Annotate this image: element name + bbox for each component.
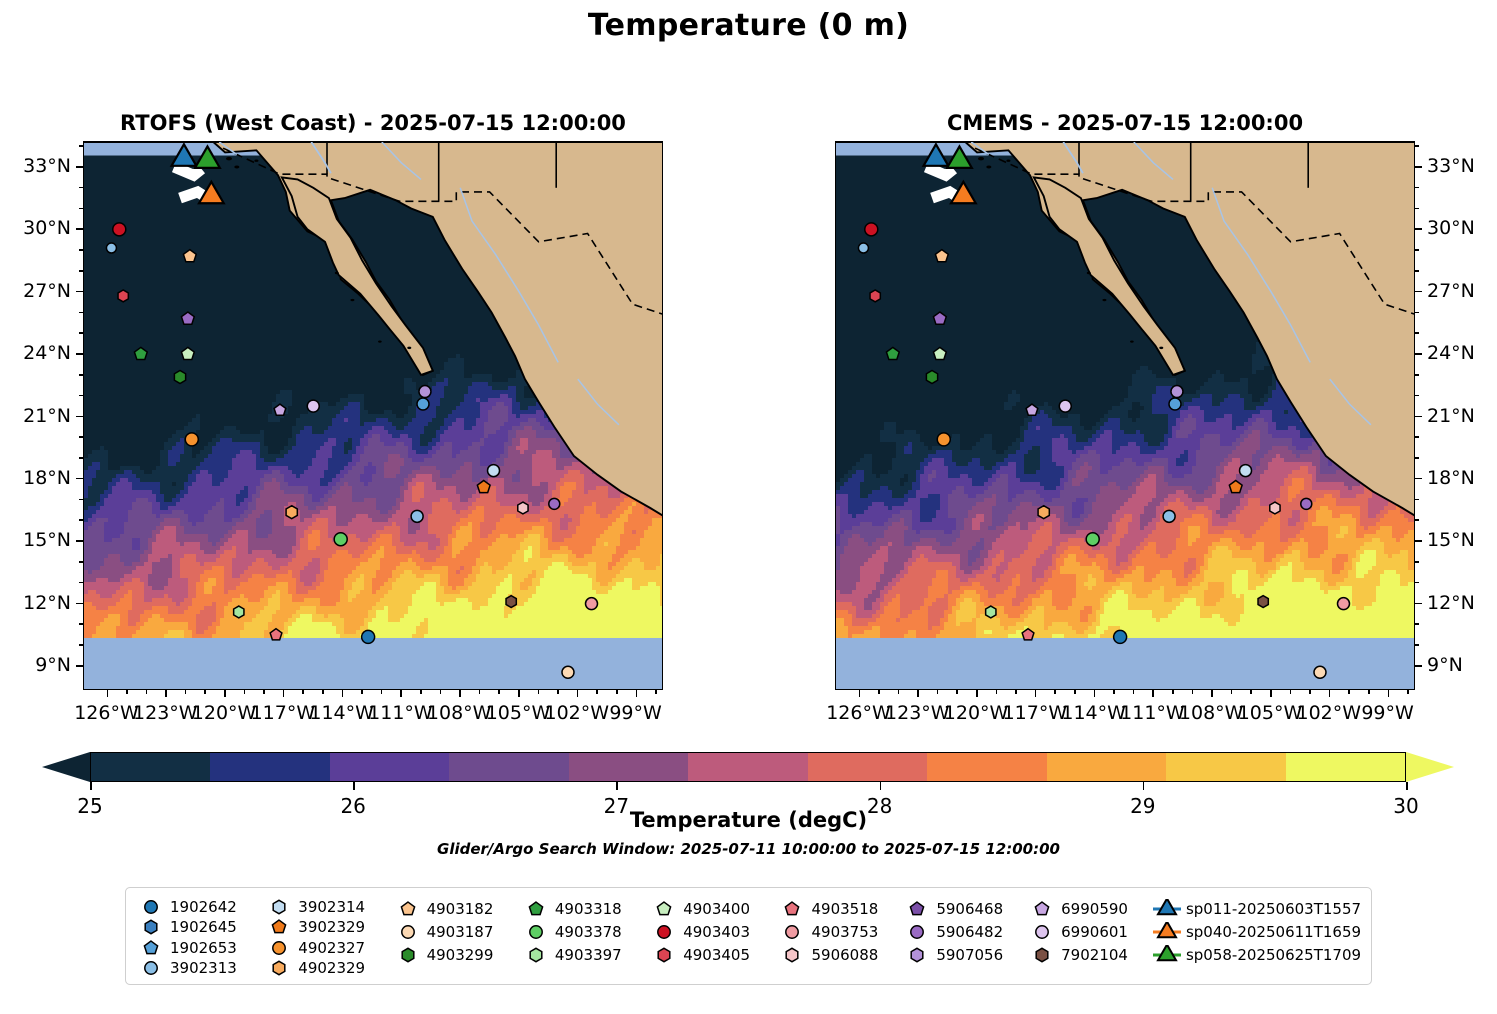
legend-marker-1902642 <box>136 897 166 917</box>
colorbar-under-arrow <box>42 752 90 782</box>
x-tick-label: 105°W <box>1238 702 1303 724</box>
nodata-band <box>84 638 663 690</box>
argo-marker-4902327 <box>937 433 950 446</box>
y-tick <box>1415 166 1422 168</box>
nodata-band <box>836 638 1415 690</box>
x-tick-label: 120°W <box>192 702 257 724</box>
x-tick-label: 117°W <box>251 702 316 724</box>
x-tick-minor <box>1309 690 1311 694</box>
legend-marker-sp040-20250611T1659 <box>1152 922 1182 942</box>
legend-marker-4902329 <box>264 958 294 978</box>
y-tick-minor <box>79 145 83 147</box>
x-tick-minor <box>956 690 958 694</box>
y-tick-minor <box>1415 499 1419 501</box>
legend-item[interactable]: 3902314 <box>264 897 392 917</box>
x-tick-minor <box>878 690 880 694</box>
y-tick-minor <box>79 561 83 563</box>
legend-item[interactable]: 4903403 <box>649 920 777 943</box>
x-tick-minor <box>1231 690 1233 694</box>
x-tick <box>1035 690 1037 697</box>
legend-marker-5907056 <box>902 945 932 965</box>
colorbar-tick <box>1406 782 1408 790</box>
x-tick-minor <box>381 690 383 694</box>
legend-label: sp011-20250603T1557 <box>1182 900 1361 918</box>
argo-marker-3902313c <box>1163 510 1175 522</box>
legend-marker-1902645 <box>136 917 166 937</box>
argo-marker-4903378 <box>1086 533 1099 546</box>
figure-title: Temperature (0 m) <box>0 8 1497 43</box>
map-axes-cmems[interactable] <box>835 141 1415 690</box>
y-tick <box>1415 353 1422 355</box>
y-tick-minor <box>1415 187 1419 189</box>
y-tick-minor <box>1415 208 1419 210</box>
x-tick <box>283 690 285 697</box>
colorbar-band-3 <box>449 753 568 781</box>
y-tick-minor <box>79 249 83 251</box>
map-panel-cmems: CMEMS - 2025-07-15 12:00:00 126°W123°W12… <box>835 141 1415 690</box>
legend-item[interactable]: 4903182 <box>393 897 521 920</box>
x-tick-minor <box>1407 690 1409 694</box>
x-tick-minor <box>244 690 246 694</box>
argo-marker-4903299 <box>174 371 185 384</box>
x-tick-label: 105°W <box>486 702 551 724</box>
legend-item[interactable]: 6990601 <box>1027 920 1152 943</box>
panel-title-rtofs: RTOFS (West Coast) - 2025-07-15 12:00:00 <box>83 111 663 135</box>
y-tick-minor <box>1415 457 1419 459</box>
argo-marker-4903753 <box>586 598 598 610</box>
panel-title-cmems: CMEMS - 2025-07-15 12:00:00 <box>835 111 1415 135</box>
legend-label: 4903187 <box>423 923 494 941</box>
argo-marker-4903299 <box>926 371 937 384</box>
argo-marker-3902313b <box>417 398 429 410</box>
colorbar-tick <box>616 782 618 790</box>
argo-marker-4903753 <box>1338 598 1350 610</box>
y-tick-minor <box>79 519 83 521</box>
legend-marker-1902653 <box>136 938 166 958</box>
x-tick <box>400 690 402 697</box>
x-tick-minor <box>1192 690 1194 694</box>
x-tick-label: 108°W <box>1179 702 1244 724</box>
x-tick-label: 123°W <box>885 702 950 724</box>
colorbar-gradient <box>90 752 1406 782</box>
y-tick-label: 21°N <box>1427 405 1475 427</box>
x-tick-label: 120°W <box>944 702 1009 724</box>
x-tick-minor <box>185 690 187 694</box>
legend-marker-4903397 <box>521 945 551 965</box>
legend-label: 4902327 <box>294 939 365 957</box>
y-tick-minor <box>79 312 83 314</box>
y-tick-minor <box>1415 312 1419 314</box>
x-tick-label: 99°W <box>609 702 661 724</box>
legend: 1902642190264519026533902313390231439023… <box>125 887 1372 985</box>
x-tick <box>577 690 579 697</box>
argo-marker-4902327 <box>185 433 198 446</box>
legend-marker-4903318 <box>521 899 551 919</box>
x-tick-label: 126°W <box>826 702 891 724</box>
colorbar-tick <box>880 782 882 790</box>
argo-marker-4903403 <box>865 223 878 236</box>
x-tick-label: 123°W <box>133 702 198 724</box>
legend-label: 3902314 <box>294 898 365 916</box>
y-tick-minor <box>1415 582 1419 584</box>
argo-marker-4903397 <box>234 606 244 618</box>
legend-label: 4903299 <box>423 946 494 964</box>
y-tick <box>76 540 83 542</box>
y-tick <box>76 291 83 293</box>
legend-label: 3902329 <box>294 918 365 936</box>
x-tick-minor <box>1290 690 1292 694</box>
legend-label: 6990601 <box>1057 923 1128 941</box>
x-tick-minor <box>322 690 324 694</box>
y-tick-minor <box>79 644 83 646</box>
x-tick <box>976 690 978 697</box>
legend-item[interactable]: 4903518 <box>777 897 902 920</box>
y-tick-label: 27°N <box>1427 280 1475 302</box>
legend-label: 5906482 <box>932 923 1003 941</box>
y-tick-minor <box>1415 374 1419 376</box>
legend-item[interactable]: 1902645 <box>136 917 264 937</box>
legend-label: 4903403 <box>679 923 750 941</box>
x-tick-minor <box>1074 690 1076 694</box>
x-tick-minor <box>361 690 363 694</box>
y-tick-label: 33°N <box>23 155 71 177</box>
legend-item[interactable]: 5906482 <box>902 920 1027 943</box>
x-tick-label: 111°W <box>368 702 433 724</box>
y-tick-minor <box>79 623 83 625</box>
legend-label: 1902642 <box>166 898 237 916</box>
legend-marker-3902329 <box>264 917 294 937</box>
legend-column-2: 490318249031874903299 <box>393 897 521 978</box>
legend-label: 5907056 <box>932 946 1003 964</box>
legend-item[interactable]: sp058-20250625T1709 <box>1152 943 1361 966</box>
colorbar-band-9 <box>1166 753 1285 781</box>
argo-marker-7902104 <box>1258 596 1268 608</box>
y-tick <box>76 478 83 480</box>
legend-item[interactable]: 1902642 <box>136 897 264 917</box>
legend-marker-6990590 <box>1027 899 1057 919</box>
legend-column-8: sp011-20250603T1557sp040-20250611T1659sp… <box>1152 897 1361 978</box>
argo-marker-4903187 <box>1314 666 1326 678</box>
y-tick-minor <box>1415 332 1419 334</box>
y-tick-label: 18°N <box>23 467 71 489</box>
y-tick-minor <box>1415 519 1419 521</box>
x-tick <box>1211 690 1213 697</box>
x-tick-minor <box>440 690 442 694</box>
argo-marker-5907056 <box>1171 386 1183 398</box>
legend-label: 4903400 <box>679 900 750 918</box>
y-tick-label: 9°N <box>1427 654 1463 676</box>
colorbar-band-0 <box>91 753 210 781</box>
y-tick <box>76 665 83 667</box>
argo-marker-4903397 <box>986 606 996 618</box>
x-tick <box>636 690 638 697</box>
argo-marker-4902329 <box>286 506 297 519</box>
argo-marker-4903378 <box>334 533 347 546</box>
legend-label: 4903378 <box>551 923 622 941</box>
map-panel-rtofs: RTOFS (West Coast) - 2025-07-15 12:00:00… <box>83 141 663 690</box>
y-tick <box>76 603 83 605</box>
x-tick-minor <box>263 690 265 694</box>
x-tick-minor <box>1172 690 1174 694</box>
legend-marker-4903518 <box>777 899 807 919</box>
y-tick-minor <box>1415 623 1419 625</box>
y-tick-label: 24°N <box>23 342 71 364</box>
x-tick <box>859 690 861 697</box>
x-tick-minor <box>898 690 900 694</box>
colorbar-band-7 <box>927 753 1046 781</box>
x-tick-label: 102°W <box>1297 702 1362 724</box>
sst-field <box>836 142 1415 690</box>
y-tick-label: 30°N <box>23 217 71 239</box>
legend-label: 4903518 <box>807 900 878 918</box>
x-tick <box>107 690 109 697</box>
x-tick-label: 99°W <box>1361 702 1413 724</box>
x-tick <box>1094 690 1096 697</box>
legend-item[interactable]: sp040-20250611T1659 <box>1152 920 1361 943</box>
x-tick-minor <box>655 690 657 694</box>
legend-item[interactable]: 4902327 <box>264 938 392 958</box>
x-tick-minor <box>126 690 128 694</box>
legend-column-6: 590646859064825907056 <box>902 897 1027 978</box>
colorbar-tick <box>1143 782 1145 790</box>
legend-label: 6990590 <box>1057 900 1128 918</box>
y-tick-label: 30°N <box>1427 217 1475 239</box>
x-tick-label: 114°W <box>309 702 374 724</box>
legend-marker-4903753 <box>777 922 807 942</box>
legend-column-1: 3902314390232949023274902329 <box>264 897 392 978</box>
x-tick <box>1329 690 1331 697</box>
y-tick-minor <box>79 270 83 272</box>
x-tick-minor <box>479 690 481 694</box>
argo-marker-4903403 <box>113 223 126 236</box>
x-tick-label: 114°W <box>1061 702 1126 724</box>
argo-marker-7902104 <box>506 596 516 608</box>
legend-label: 4903318 <box>551 900 622 918</box>
x-tick <box>342 690 344 697</box>
legend-item[interactable]: 4903405 <box>649 943 777 966</box>
legend-item[interactable]: 5906088 <box>777 943 902 966</box>
y-tick <box>1415 416 1422 418</box>
argo-marker-5906088 <box>518 502 528 514</box>
x-tick-minor <box>1133 690 1135 694</box>
y-tick-label: 15°N <box>1427 529 1475 551</box>
y-tick-label: 12°N <box>1427 592 1475 614</box>
colorbar-tick <box>90 782 92 790</box>
argo-marker-1902642 <box>1114 630 1127 643</box>
legend-marker-4903182 <box>393 899 423 919</box>
x-tick-minor <box>302 690 304 694</box>
argo-marker-6990601 <box>307 400 319 412</box>
legend-marker-5906468 <box>902 899 932 919</box>
legend-item[interactable]: sp011-20250603T1557 <box>1152 897 1361 920</box>
legend-marker-6990601 <box>1027 922 1057 942</box>
legend-marker-sp011-20250603T1557 <box>1152 899 1182 919</box>
colorbar-band-5 <box>688 753 807 781</box>
colorbar-band-10 <box>1286 753 1405 781</box>
x-tick-minor <box>557 690 559 694</box>
x-tick-minor <box>498 690 500 694</box>
legend-item[interactable]: 3902313 <box>136 958 264 978</box>
x-tick-label: 126°W <box>74 702 139 724</box>
legend-label: sp058-20250625T1709 <box>1182 946 1361 964</box>
colorbar-band-8 <box>1047 753 1166 781</box>
legend-marker-4902327 <box>264 938 294 958</box>
y-tick-label: 12°N <box>23 592 71 614</box>
argo-marker-3902313 <box>858 243 868 253</box>
x-tick-minor <box>616 690 618 694</box>
x-tick-minor <box>204 690 206 694</box>
legend-item[interactable]: 4903753 <box>777 920 902 943</box>
legend-item[interactable]: 5906468 <box>902 897 1027 920</box>
x-tick <box>224 690 226 697</box>
legend-item[interactable]: 7902104 <box>1027 943 1152 966</box>
y-tick <box>1415 603 1422 605</box>
legend-item[interactable]: 4903187 <box>393 920 521 943</box>
x-tick-label: 102°W <box>545 702 610 724</box>
legend-item[interactable]: 5907056 <box>902 943 1027 966</box>
argo-marker-3902313 <box>106 243 116 253</box>
y-tick-label: 18°N <box>1427 467 1475 489</box>
y-tick <box>1415 228 1422 230</box>
legend-marker-5906482 <box>902 922 932 942</box>
y-tick-minor <box>1415 561 1419 563</box>
colorbar-title: Temperature (degC) <box>0 808 1497 832</box>
y-tick <box>76 166 83 168</box>
y-tick-minor <box>79 582 83 584</box>
legend-item[interactable]: 4903318 <box>521 897 649 920</box>
y-tick-minor <box>1415 395 1419 397</box>
x-tick-minor <box>1054 690 1056 694</box>
legend-label: 4902329 <box>294 959 365 977</box>
x-tick-minor <box>937 690 939 694</box>
x-tick-minor <box>996 690 998 694</box>
legend-marker-5906088 <box>777 945 807 965</box>
map-axes-rtofs[interactable] <box>83 141 663 690</box>
argo-marker-4903187 <box>562 666 574 678</box>
legend-item[interactable]: 4903397 <box>521 943 649 966</box>
y-tick-minor <box>79 332 83 334</box>
y-tick-label: 9°N <box>35 654 71 676</box>
x-tick <box>1388 690 1390 697</box>
x-tick <box>165 690 167 697</box>
legend-item[interactable]: 4903378 <box>521 920 649 943</box>
legend-label: 1902645 <box>166 918 237 936</box>
legend-label: 1902653 <box>166 939 237 957</box>
legend-column-0: 1902642190264519026533902313 <box>136 897 264 978</box>
sst-field <box>84 142 663 690</box>
legend-item[interactable]: 4902329 <box>264 958 392 978</box>
legend-marker-4903405 <box>649 945 679 965</box>
argo-marker-6990601 <box>1059 400 1071 412</box>
y-tick-label: 15°N <box>23 529 71 551</box>
colorbar-band-2 <box>330 753 449 781</box>
y-tick-minor <box>79 395 83 397</box>
legend-item[interactable]: 4903299 <box>393 943 521 966</box>
legend-item[interactable]: 6990590 <box>1027 897 1152 920</box>
y-tick <box>76 353 83 355</box>
legend-label: 3902313 <box>166 959 237 977</box>
legend-marker-3902313 <box>136 958 166 978</box>
legend-column-4: 490340049034034903405 <box>649 897 777 978</box>
legend-label: 7902104 <box>1057 946 1128 964</box>
legend-column-7: 699059069906017902104 <box>1027 897 1152 978</box>
legend-label: 4903405 <box>679 946 750 964</box>
y-tick-minor <box>1415 249 1419 251</box>
colorbar-tick <box>353 782 355 790</box>
argo-marker-4903405 <box>118 290 128 302</box>
argo-marker-1902642 <box>362 630 375 643</box>
y-tick-minor <box>1415 270 1419 272</box>
legend-label: 4903182 <box>423 900 494 918</box>
y-tick-minor <box>79 436 83 438</box>
y-tick-minor <box>1415 436 1419 438</box>
y-tick <box>76 228 83 230</box>
y-tick-minor <box>79 208 83 210</box>
y-tick-minor <box>1415 644 1419 646</box>
y-tick <box>1415 665 1422 667</box>
x-tick-minor <box>538 690 540 694</box>
legend-label: 4903397 <box>551 946 622 964</box>
legend-label: sp040-20250611T1659 <box>1182 923 1361 941</box>
y-tick <box>1415 540 1422 542</box>
x-tick <box>1152 690 1154 697</box>
legend-marker-4903378 <box>521 922 551 942</box>
y-tick <box>76 416 83 418</box>
argo-marker-3902313c <box>411 510 423 522</box>
y-tick-minor <box>79 457 83 459</box>
x-tick-minor <box>1368 690 1370 694</box>
argo-marker-4903405 <box>870 290 880 302</box>
x-tick-minor <box>1113 690 1115 694</box>
x-tick <box>1270 690 1272 697</box>
argo-marker-5906088 <box>1270 502 1280 514</box>
y-tick-minor <box>79 187 83 189</box>
argo-marker-5906482 <box>549 498 560 509</box>
legend-item[interactable]: 1902653 <box>136 938 264 958</box>
colorbar-over-arrow <box>1406 752 1454 782</box>
y-tick-label: 33°N <box>1427 155 1475 177</box>
legend-column-3: 490331849033784903397 <box>521 897 649 978</box>
x-tick-label: 117°W <box>1003 702 1068 724</box>
legend-item[interactable]: 4903400 <box>649 897 777 920</box>
legend-item[interactable]: 3902329 <box>264 917 392 937</box>
legend-marker-sp058-20250625T1709 <box>1152 945 1182 965</box>
argo-marker-3902313b <box>1169 398 1181 410</box>
argo-marker-3902314 <box>1240 465 1252 477</box>
search-window-caption: Glider/Argo Search Window: 2025-07-11 10… <box>0 840 1497 858</box>
y-tick <box>1415 478 1422 480</box>
legend-label: 5906468 <box>932 900 1003 918</box>
colorbar-band-1 <box>210 753 329 781</box>
x-tick-label: 108°W <box>427 702 492 724</box>
x-tick-minor <box>596 690 598 694</box>
x-tick-label: 111°W <box>1120 702 1185 724</box>
legend-label: 4903753 <box>807 923 878 941</box>
y-tick-minor <box>1415 145 1419 147</box>
y-tick-label: 24°N <box>1427 342 1475 364</box>
argo-marker-5907056 <box>419 386 431 398</box>
x-tick <box>459 690 461 697</box>
legend-marker-4903400 <box>649 899 679 919</box>
colorbar-band-6 <box>808 753 927 781</box>
legend-marker-4903187 <box>393 922 423 942</box>
legend-label: 5906088 <box>807 946 878 964</box>
y-tick-label: 21°N <box>23 405 71 427</box>
argo-marker-3902314 <box>488 465 500 477</box>
legend-marker-3902314 <box>264 897 294 917</box>
x-tick-minor <box>1250 690 1252 694</box>
legend-marker-7902104 <box>1027 945 1057 965</box>
